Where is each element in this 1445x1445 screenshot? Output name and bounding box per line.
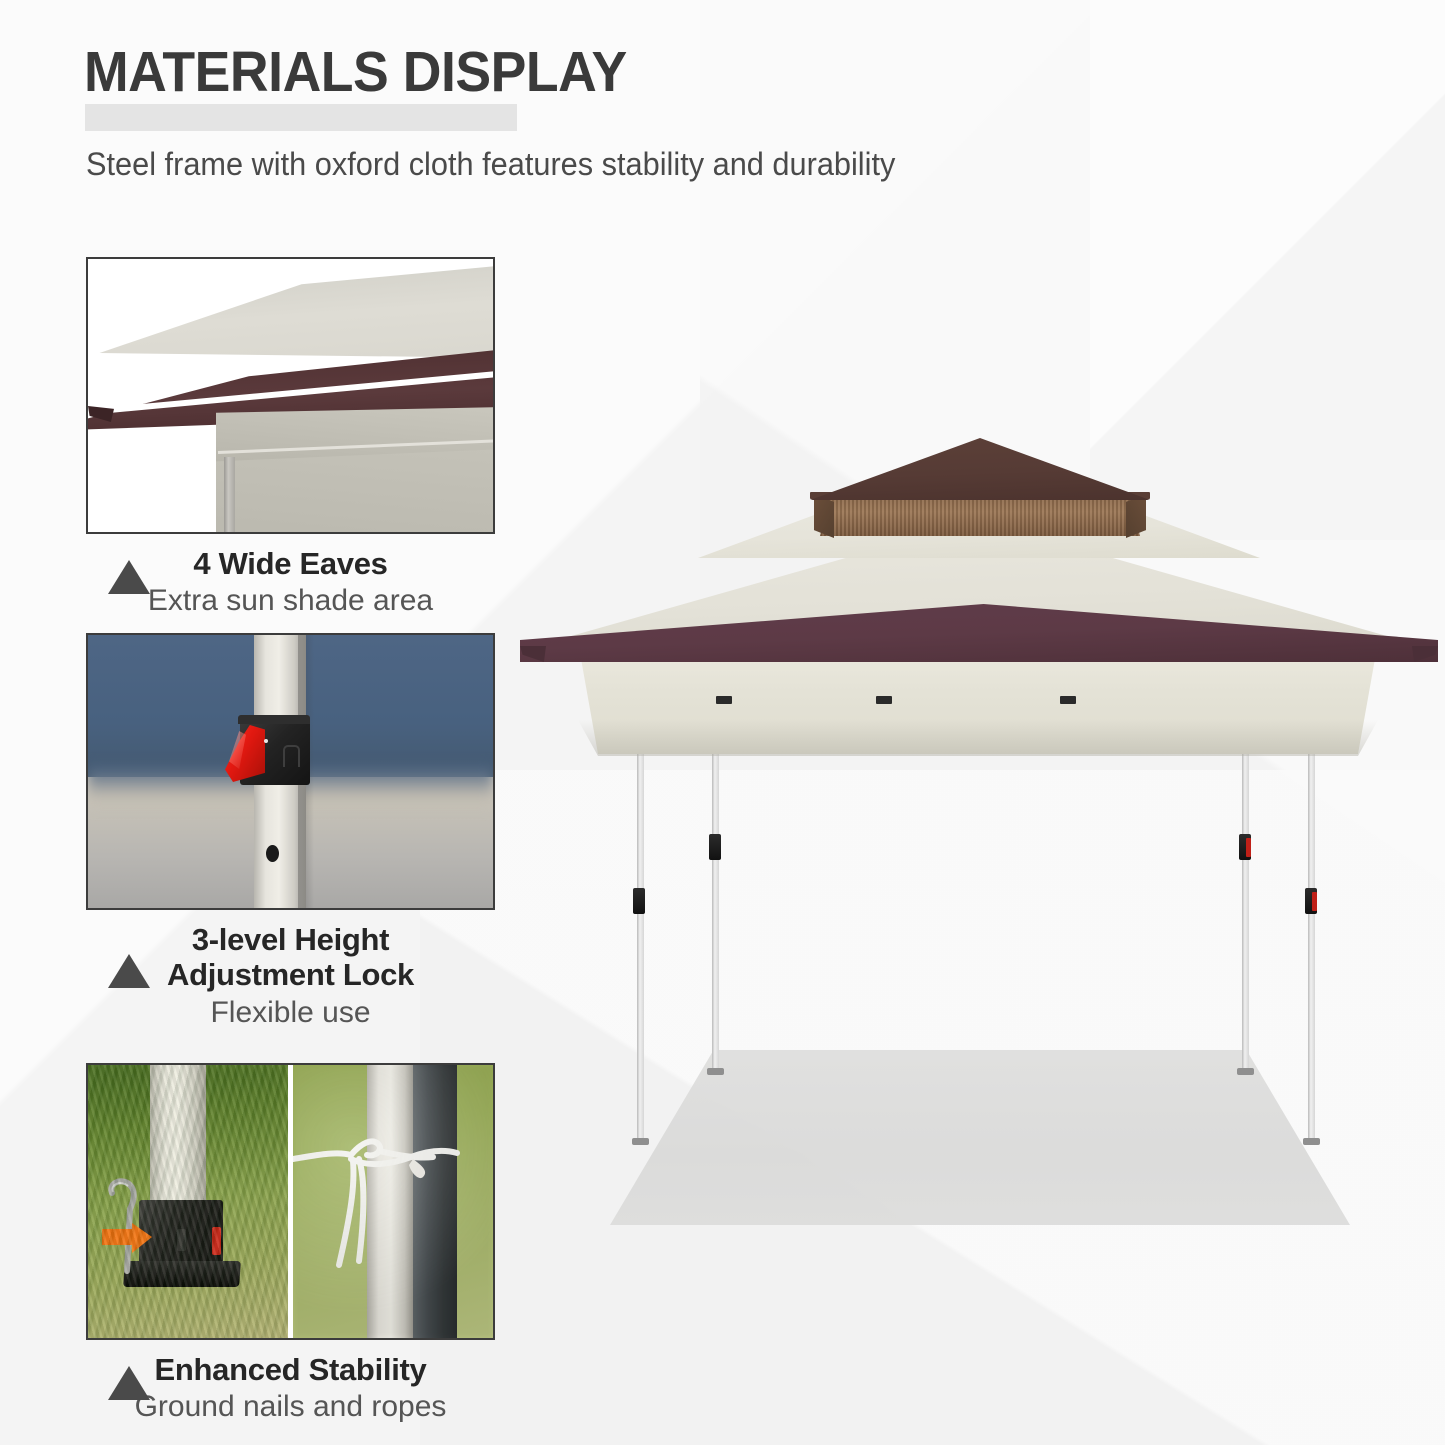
gazebo-leg-lock-red-front-right — [1246, 838, 1251, 857]
gazebo-foot-back-right — [1303, 1138, 1320, 1145]
gazebo-valance-clip-3 — [1060, 696, 1076, 704]
gazebo-vent-mesh — [820, 496, 1140, 536]
gazebo-foot-back-left — [632, 1138, 649, 1145]
gazebo-leg-lock-red-back-right — [1312, 892, 1317, 911]
stability-foot-notch — [177, 1229, 186, 1251]
feature-block-stability: Enhanced Stability Ground nails and rope… — [86, 1063, 495, 1425]
product-image-gazebo — [520, 420, 1440, 1200]
stability-grass-blur — [88, 1065, 288, 1191]
eaves-support-pole — [224, 457, 235, 534]
gazebo-leg-lock-back-left — [633, 888, 645, 914]
caption-stability: Enhanced Stability Ground nails and rope… — [86, 1340, 495, 1425]
stability-grass-photo — [88, 1065, 288, 1338]
lock-indicator-dot — [264, 739, 268, 743]
page-subtitle: Steel frame with oxford cloth features s… — [86, 145, 895, 183]
feature-block-wide-eaves: 4 Wide Eaves Extra sun shade area — [86, 257, 495, 619]
caption-title-line1: 3-level Height — [86, 922, 495, 957]
gazebo-valance-clip-1 — [716, 696, 732, 704]
stability-foot-housing — [139, 1200, 223, 1278]
gazebo-leg-back-left — [637, 692, 644, 1142]
triangle-bullet-icon — [108, 1366, 150, 1400]
stability-foot-red-tab — [212, 1227, 221, 1255]
stability-rope-photo — [293, 1065, 493, 1338]
infographic-page: MATERIALS DISPLAY Steel frame with oxfor… — [0, 0, 1445, 1445]
thumbnail-stability — [86, 1063, 495, 1340]
lock-pin-hole — [266, 845, 279, 862]
lock-housing-notch — [283, 745, 300, 767]
feature-block-height-lock: 3-level Height Adjustment Lock Flexible … — [86, 633, 495, 1031]
thumbnail-wide-eaves — [86, 257, 495, 534]
triangle-bullet-icon — [108, 954, 150, 988]
stability-white-pole — [367, 1065, 413, 1338]
gazebo-foot-front-right — [1237, 1068, 1254, 1075]
eaves-valance-lower — [216, 447, 495, 534]
stability-dark-pole — [413, 1065, 457, 1338]
stability-leg-pole — [150, 1065, 206, 1276]
arrow-icon — [102, 1223, 154, 1259]
gazebo-valance-shading — [578, 720, 1378, 756]
ground-stake-icon — [106, 1175, 148, 1275]
page-title: MATERIALS DISPLAY — [84, 44, 627, 101]
lock-housing-top — [238, 715, 310, 724]
tie-down-rope-icon — [293, 1115, 493, 1315]
thumbnail-height-lock — [86, 633, 495, 910]
gazebo-valance-clip-2 — [876, 696, 892, 704]
caption-wide-eaves: 4 Wide Eaves Extra sun shade area — [86, 534, 495, 619]
caption-subtitle: Flexible use — [86, 995, 495, 1031]
gazebo-vent-roof — [810, 438, 1150, 500]
gazebo-foot-front-left — [707, 1068, 724, 1075]
gazebo-leg-back-right — [1308, 692, 1315, 1142]
caption-height-lock: 3-level Height Adjustment Lock Flexible … — [86, 910, 495, 1031]
gazebo-ground-shadow — [610, 1050, 1350, 1225]
gazebo-leg-lock-front-left — [709, 834, 721, 860]
triangle-bullet-icon — [108, 560, 150, 594]
title-highlight-bar — [85, 104, 517, 131]
stability-foot-base-plate — [123, 1261, 241, 1287]
